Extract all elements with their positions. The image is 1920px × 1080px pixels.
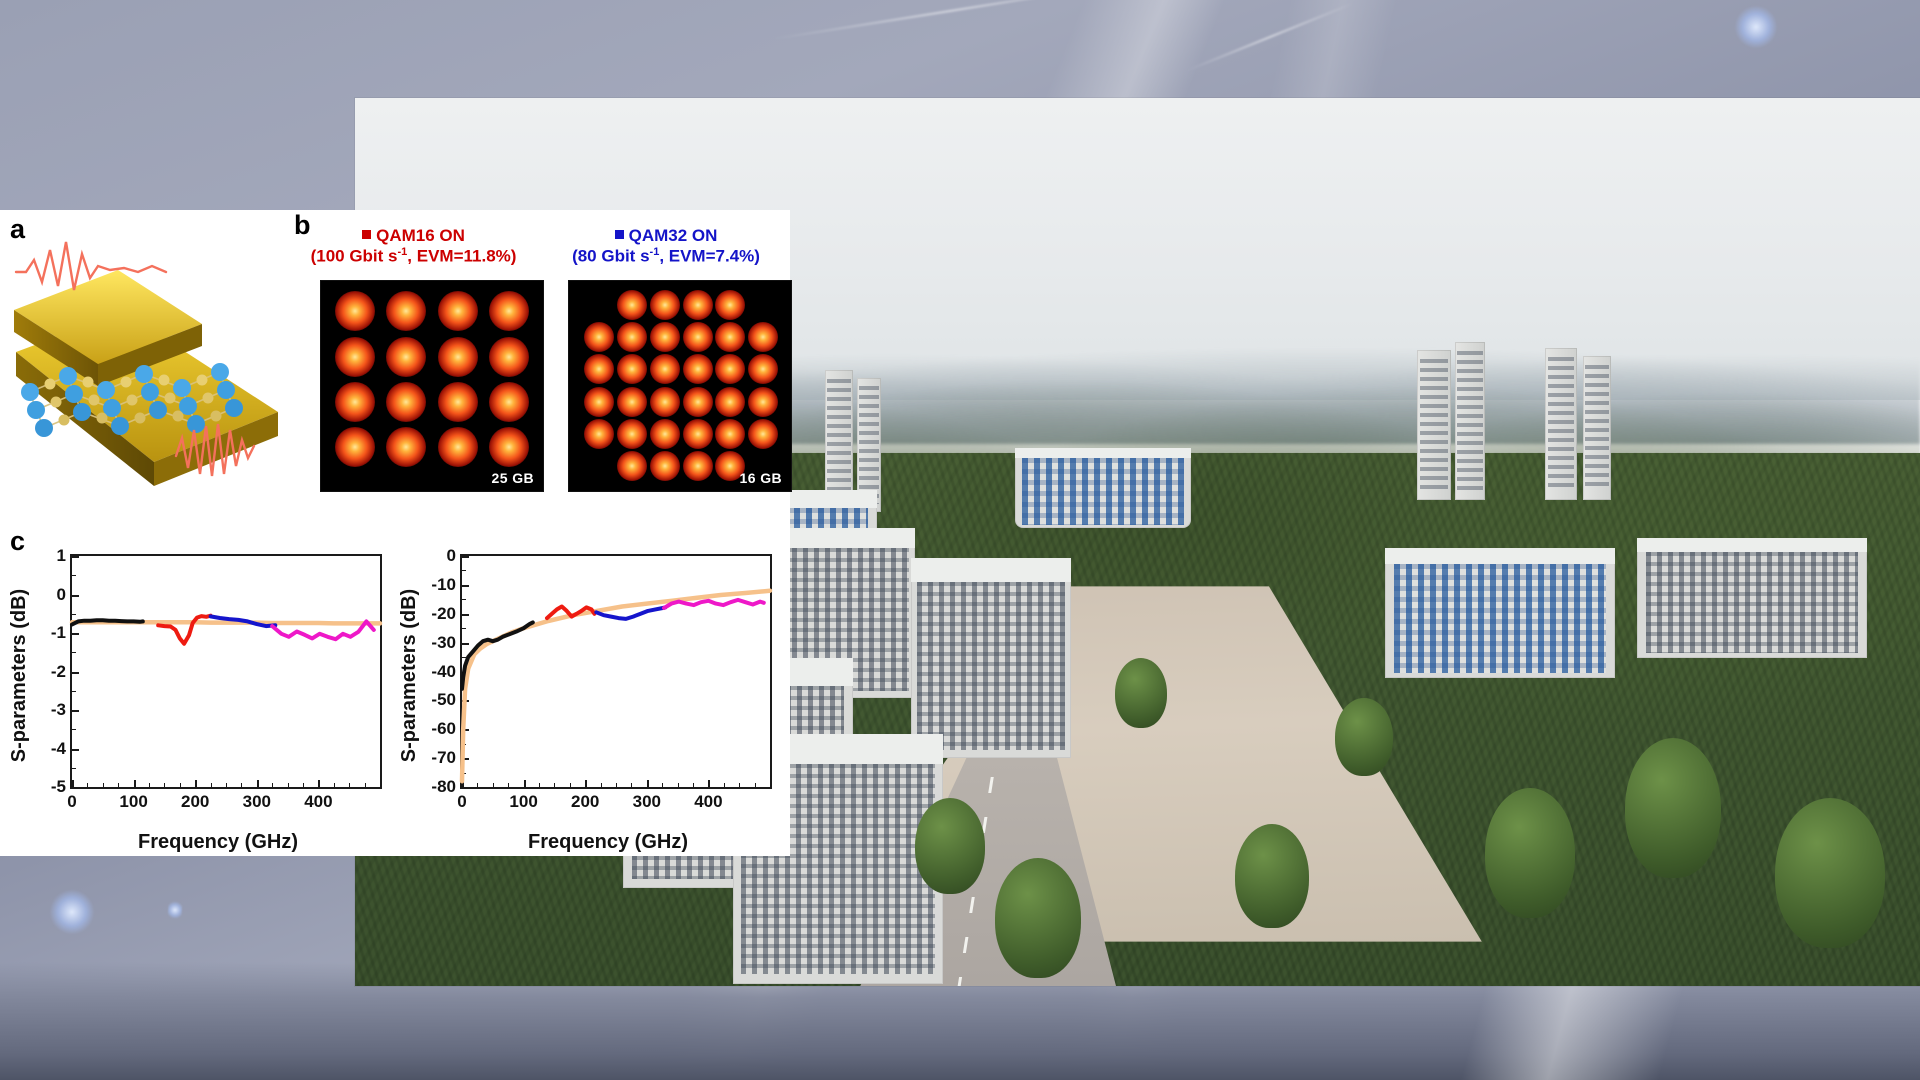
legend-qam32-subtitle: (80 Gbit s-1, EVM=7.4%) [542,246,790,267]
legend-qam32-title-row: QAM32 ON [542,226,790,246]
y-tick-label: -20 [431,604,456,624]
photo-tree [1625,738,1721,878]
plot-curves [462,556,770,787]
constellation-point [715,354,745,384]
legend-qam32-sub-suffix: , EVM=7.4%) [659,247,760,266]
photo-building-windows [1646,552,1858,653]
constellation-point [617,290,647,320]
y-minor-tick [72,787,76,788]
y-minor-tick [462,787,466,788]
device-schematic-svg [6,224,286,524]
legend-qam16-title: QAM16 ON [376,226,465,245]
constellation-point [748,322,778,352]
constellation-point [438,427,478,467]
constellation-point [617,322,647,352]
y-tick-label: -60 [431,719,456,739]
constellation-point [489,337,529,377]
constellation-qam32: 16 GB [568,280,792,492]
x-tick-label: 400 [694,792,722,812]
photo-tree [1775,798,1885,948]
x-tick-label: 300 [633,792,661,812]
y-tick-label: -1 [51,623,66,643]
plot-curves [72,556,380,787]
legend-qam32: QAM32 ON (80 Gbit s-1, EVM=7.4%) [542,226,790,267]
photo-tower [1455,342,1485,500]
constellation-point [438,337,478,377]
photo-tree [915,798,985,894]
photo-tree [1115,658,1167,728]
plot-s21: S-parameters (dB) 10-1-2-3-4-50100200300… [6,532,396,856]
constellation-point [617,451,647,481]
constellation-point [489,427,529,467]
photo-building [1637,538,1867,658]
constellation-qam16-label: 25 GB [492,470,534,486]
constellation-point [715,387,745,417]
constellation-point [683,419,713,449]
constellation-point [584,419,614,449]
y-tick-label: 0 [447,546,456,566]
constellation-point [650,419,680,449]
constellation-point [617,419,647,449]
constellation-point [489,291,529,331]
constellation-point [748,354,778,384]
legend-marker-blue-icon [615,230,624,239]
photo-tower [1417,350,1451,500]
x-tick-label: 0 [67,792,76,812]
legend-qam16-title-row: QAM16 ON [286,226,541,246]
photo-building [1015,448,1191,528]
constellation-point [386,382,426,422]
constellation-point [617,354,647,384]
x-tick-label: 200 [571,792,599,812]
constellation-point [386,291,426,331]
photo-tree [1235,824,1309,928]
y-tick-label: -80 [431,777,456,797]
legend-qam32-sub-prefix: (80 Gbit s [572,247,649,266]
plot-s11-xlabel: Frequency (GHz) [436,831,780,854]
constellation-point [617,387,647,417]
constellation-point [683,354,713,384]
plot-s21-axes: 10-1-2-3-4-50100200300400 [70,554,382,789]
plot-s11-axes: 0-10-20-30-40-50-60-70-800100200300400 [460,554,772,789]
legend-marker-red-icon [362,230,371,239]
legend-qam32-sub-exponent: -1 [650,246,660,258]
y-tick-label: -70 [431,748,456,768]
y-tick-label: -30 [431,633,456,653]
constellation-point [650,354,680,384]
constellation-point [584,322,614,352]
plot-s11-ylabel: S-parameters (dB) [396,550,424,800]
y-tick-label: -2 [51,662,66,682]
constellation-point [683,290,713,320]
photo-tree [1335,698,1393,776]
constellation-point [715,419,745,449]
x-minor-tick [770,783,771,787]
constellation-qam16: 25 GB [320,280,544,492]
y-tick-label: -4 [51,739,66,759]
constellation-point [683,387,713,417]
constellation-point [386,427,426,467]
photo-building-roof [1385,548,1615,564]
constellation-point [748,419,778,449]
constellation-point [683,451,713,481]
x-tick-label: 200 [181,792,209,812]
s-parameter-plots: S-parameters (dB) 10-1-2-3-4-50100200300… [0,532,790,856]
device-schematic [6,224,286,524]
constellation-qam32-label: 16 GB [740,470,782,486]
legend-qam16-sub-prefix: (100 Gbit s [311,247,398,266]
constellation-point [335,382,375,422]
legend-qam32-title: QAM32 ON [629,226,718,245]
x-minor-tick [380,783,381,787]
constellation-point [650,451,680,481]
constellation-point [438,382,478,422]
constellation-point [650,387,680,417]
x-tick-label: 300 [243,792,271,812]
constellation-point [584,354,614,384]
constellation-point [335,291,375,331]
y-tick-label: -5 [51,777,66,797]
constellation-point [715,290,745,320]
figure-panel: a [0,210,790,856]
photo-tree [995,858,1081,978]
y-tick-label: -10 [431,575,456,595]
x-tick-label: 100 [119,792,147,812]
photo-building-roof [1015,448,1191,458]
constellation-point [335,427,375,467]
constellation-point [438,291,478,331]
series-band-4-magenta [664,600,764,608]
photo-building-roof [775,528,915,548]
y-tick-label: -3 [51,700,66,720]
y-tick-label: -50 [431,690,456,710]
photo-tower [1545,348,1577,500]
photo-building [911,558,1071,758]
photo-building-windows [1022,458,1184,525]
photo-building [1385,548,1615,678]
photo-building-windows [917,582,1064,750]
plot-s11: S-parameters (dB) 0-10-20-30-40-50-60-70… [396,532,786,856]
legend-qam16-subtitle: (100 Gbit s-1, EVM=11.8%) [286,246,541,267]
legend-qam16-sub-suffix: , EVM=11.8%) [407,247,516,266]
plot-s21-xlabel: Frequency (GHz) [46,831,390,854]
constellation-point [489,382,529,422]
constellation-diagrams: QAM16 ON (100 Gbit s-1, EVM=11.8%) QAM32… [290,220,790,532]
photo-tree [1485,788,1575,918]
constellation-point [386,337,426,377]
photo-tower [1583,356,1611,500]
x-tick-label: 400 [304,792,332,812]
photo-building-windows [1394,564,1606,673]
constellation-point [584,387,614,417]
photo-building-roof [911,558,1071,582]
photo-building-roof [1637,538,1867,552]
legend-qam16: QAM16 ON (100 Gbit s-1, EVM=11.8%) [286,226,541,267]
y-tick-label: -40 [431,662,456,682]
x-tick-label: 0 [457,792,466,812]
constellation-point [650,322,680,352]
x-tick-label: 100 [509,792,537,812]
constellation-point [748,387,778,417]
y-tick-label: 1 [57,546,66,566]
constellation-point [683,322,713,352]
constellation-point [335,337,375,377]
constellation-point [650,290,680,320]
legend-qam16-sub-exponent: -1 [398,246,408,258]
constellation-point [715,322,745,352]
y-tick-label: 0 [57,585,66,605]
series-band-2-red [158,616,210,644]
plot-s21-ylabel: S-parameters (dB) [6,550,34,800]
